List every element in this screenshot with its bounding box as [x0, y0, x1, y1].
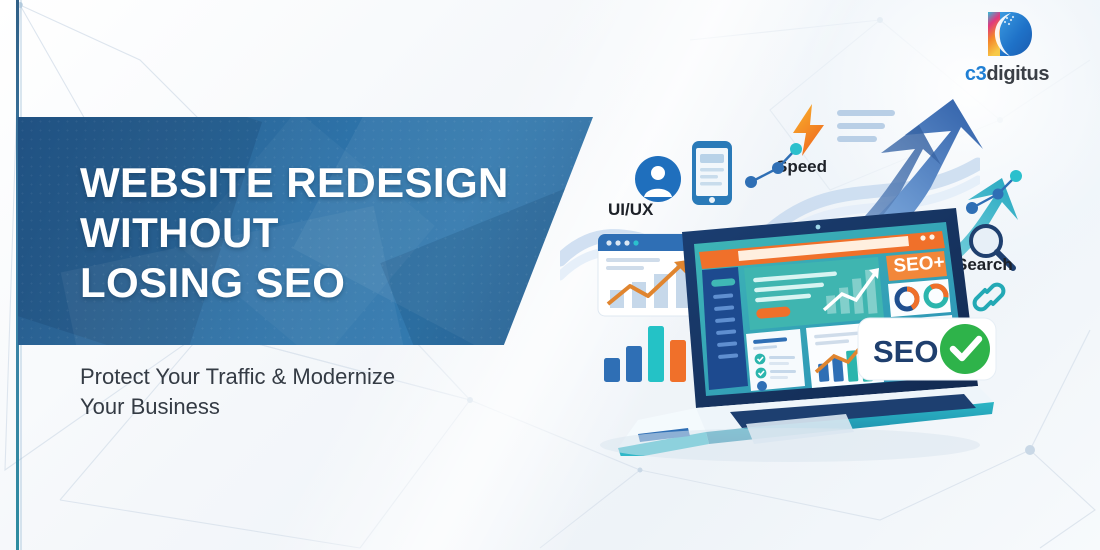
device-shadow: [590, 420, 990, 470]
seo-illustration: Speed UI/UX: [560, 0, 1100, 550]
seo-check-text: SEO: [873, 334, 938, 369]
marketing-banner: WEBSITE REDESIGN WITHOUT LOSING SEO Prot…: [0, 0, 1100, 550]
page-subtitle: Protect Your Traffic & Modernize Your Bu…: [80, 362, 510, 422]
seo-plus-text: SEO+: [893, 252, 946, 277]
page-title: WEBSITE REDESIGN WITHOUT LOSING SEO: [80, 158, 550, 308]
text-lines-icon: [837, 110, 899, 148]
seo-check-badge: SEO: [855, 315, 1000, 385]
network-node-icon: [742, 140, 806, 192]
